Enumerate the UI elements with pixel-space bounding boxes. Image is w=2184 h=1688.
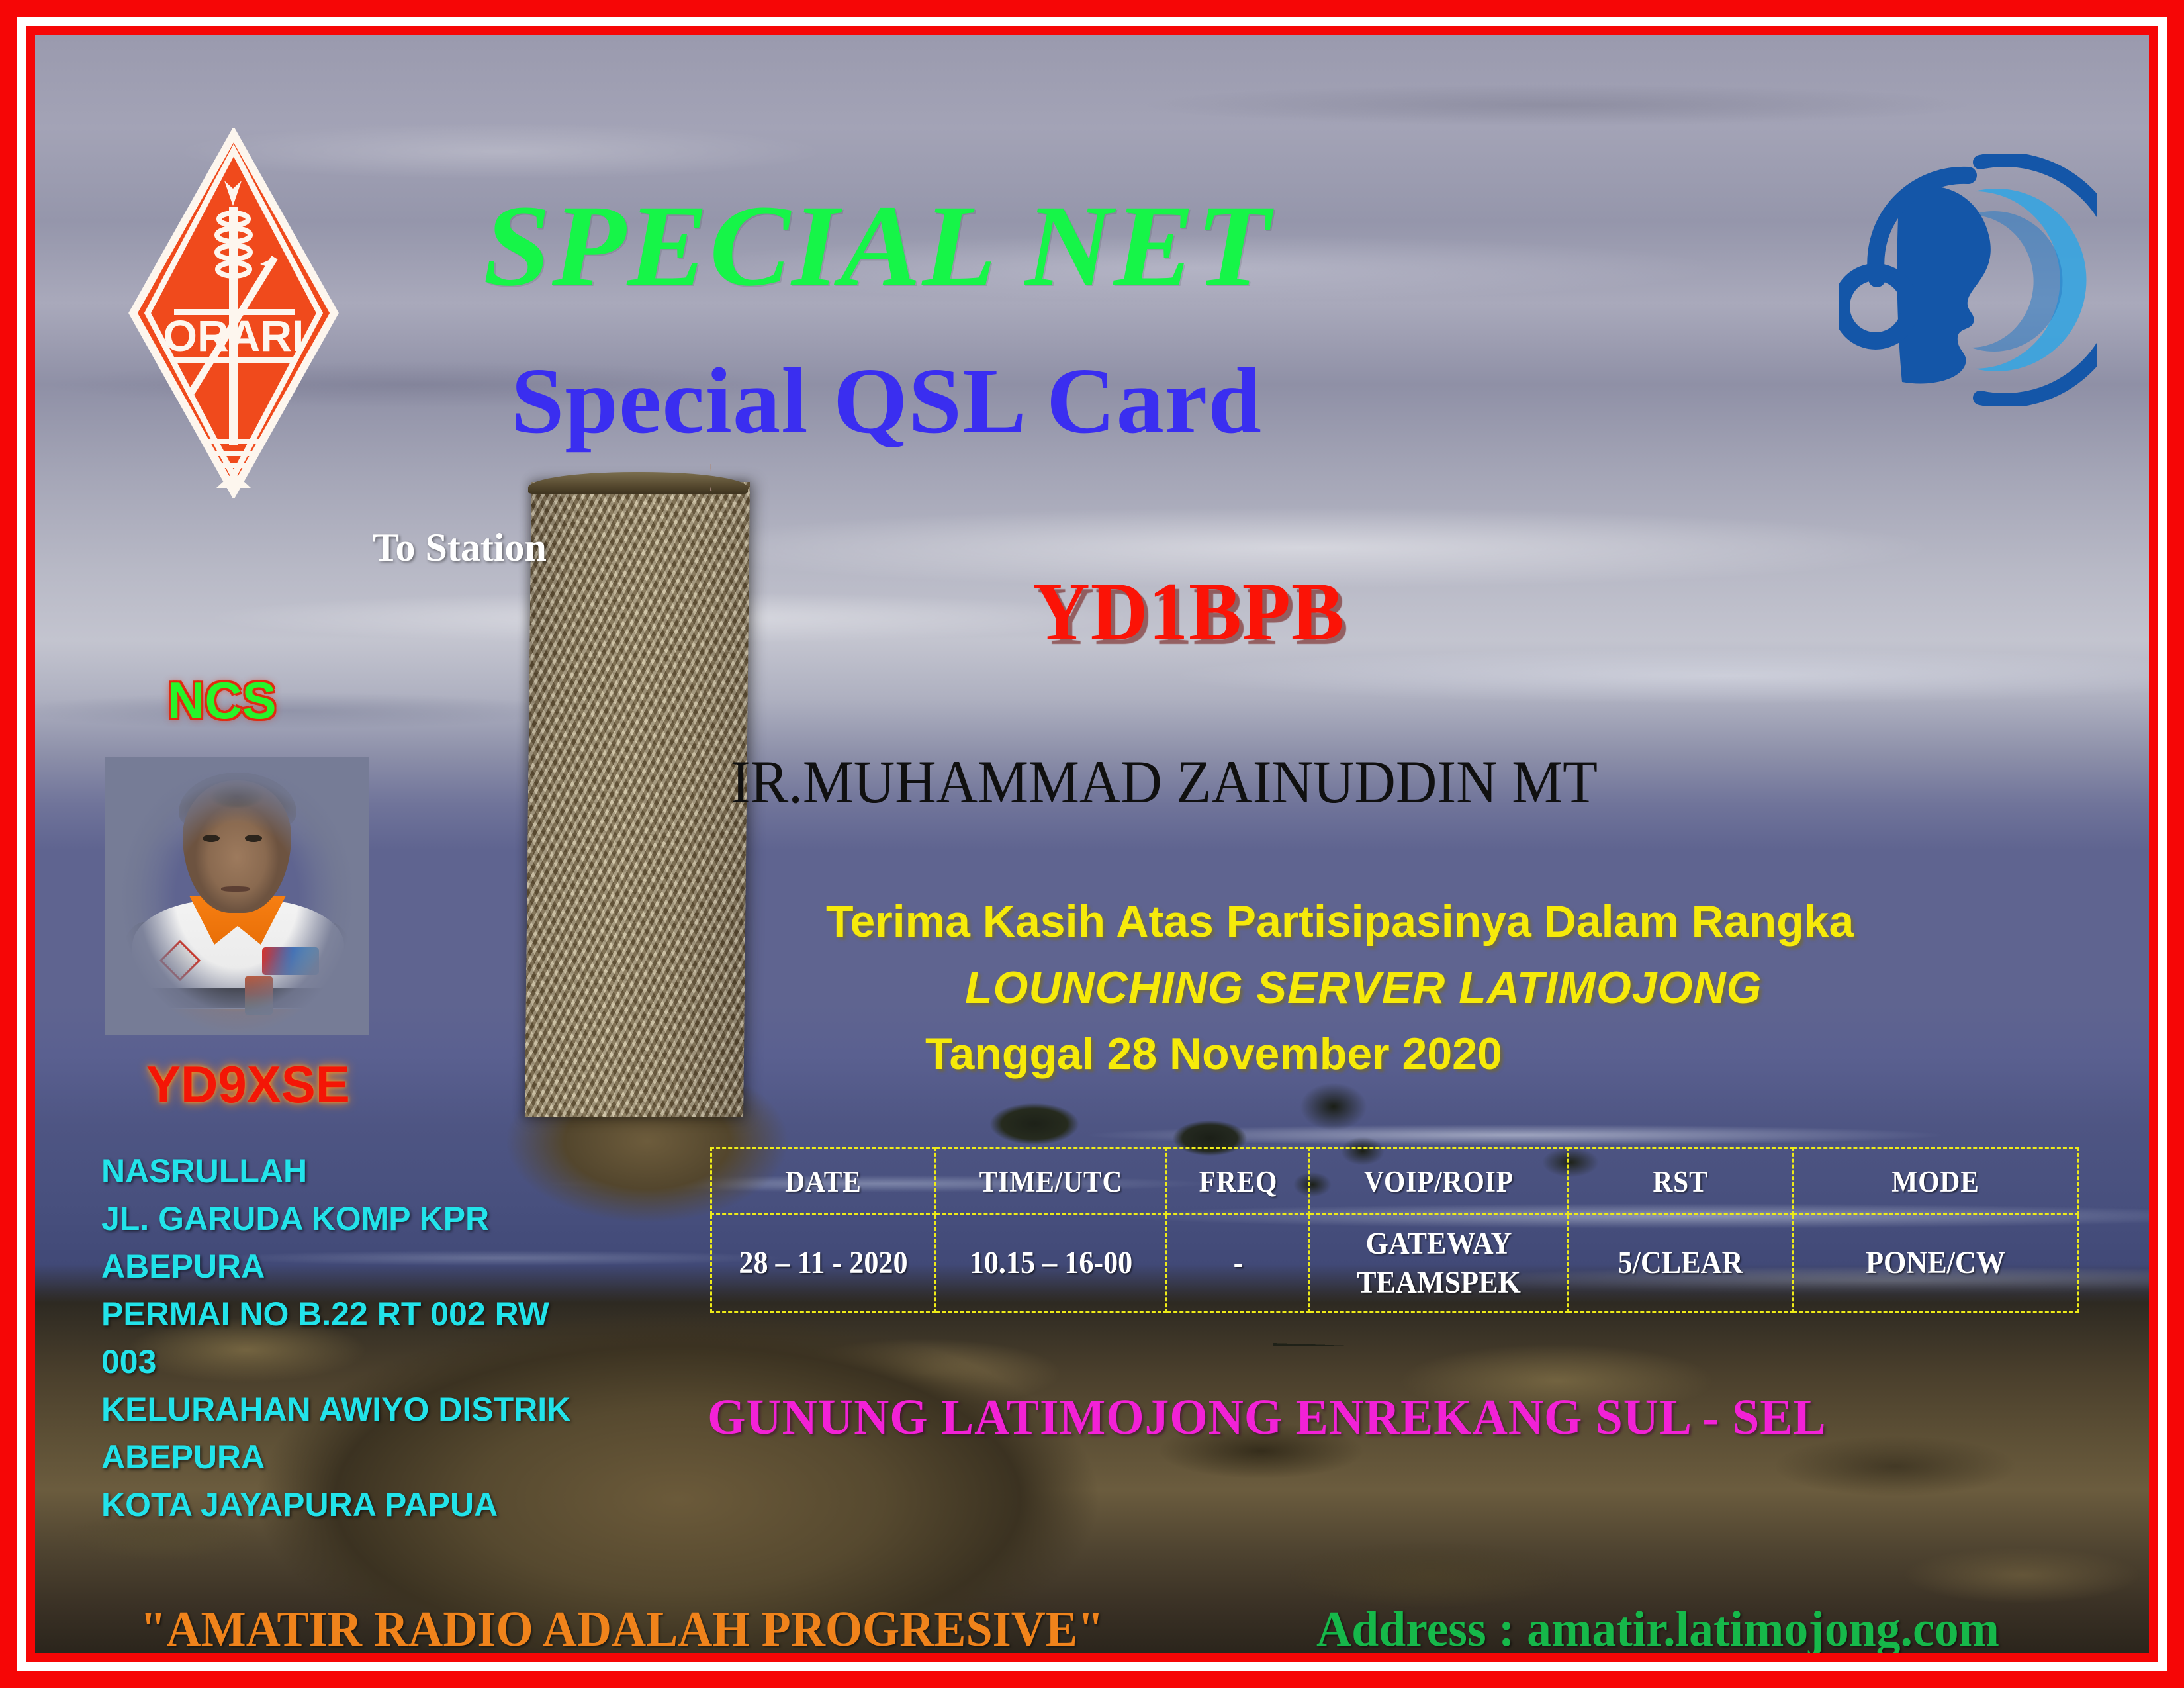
page-title: SPECIAL NET bbox=[483, 179, 1271, 313]
cell-voip-line1: GATEWAY bbox=[1365, 1226, 1512, 1261]
cell-freq: - bbox=[1172, 1215, 1304, 1313]
table-header-voip: VOIP/ROIP bbox=[1320, 1149, 1557, 1215]
location-caption: GUNUNG LATIMOJONG ENREKANG SUL - SEL bbox=[707, 1389, 1826, 1446]
photo-oval-vignette bbox=[105, 757, 369, 1035]
cell-date: 28 – 11 - 2020 bbox=[720, 1215, 926, 1313]
headset-profile-logo bbox=[1839, 154, 2097, 406]
address-line: KELURAHAN AWIYO DISTRIK bbox=[101, 1385, 604, 1433]
ncs-callsign: YD9XSE bbox=[146, 1055, 350, 1115]
table-header-date: DATE bbox=[720, 1149, 926, 1215]
address-line: ABEPURA bbox=[101, 1433, 604, 1481]
qsl-card-frame-inner: ORARI SPECIAL NET Special QSL Card To St… bbox=[26, 26, 2158, 1662]
cell-rst: 5/CLEAR bbox=[1576, 1215, 1784, 1313]
table-row: 28 – 11 - 2020 10.15 – 16-00 - GATEWAY T… bbox=[711, 1215, 2078, 1313]
recipient-operator-name: IR.MUHAMMAD ZAINUDDIN MT bbox=[731, 747, 1598, 817]
page-subtitle: Special QSL Card bbox=[511, 346, 1262, 455]
orari-logo: ORARI bbox=[128, 128, 340, 498]
qsl-card-photo-area: ORARI SPECIAL NET Special QSL Card To St… bbox=[35, 35, 2149, 1653]
footer-website: Address : amatir.latimojong.com bbox=[1316, 1601, 1999, 1653]
ncs-label: NCS bbox=[167, 671, 277, 731]
ncs-operator-photo bbox=[105, 757, 369, 1035]
recipient-callsign: YD1BPB bbox=[1032, 565, 1344, 660]
table-header-row: DATE TIME/UTC FREQ VOIP/ROIP RST MODE bbox=[711, 1149, 2078, 1215]
orari-logo-text: ORARI bbox=[163, 311, 304, 360]
summit-stone-pillar bbox=[525, 482, 750, 1117]
table-header-time: TIME/UTC bbox=[944, 1149, 1158, 1215]
cell-voip: GATEWAY TEAMSPEK bbox=[1320, 1215, 1557, 1313]
table-header-rst: RST bbox=[1576, 1149, 1784, 1215]
to-station-label: To Station bbox=[373, 525, 547, 571]
address-line: JL. GARUDA KOMP KPR bbox=[101, 1195, 604, 1243]
footer-slogan: "AMATIR RADIO ADALAH PROGRESIVE" bbox=[140, 1601, 1104, 1653]
event-date-line: Tanggal 28 November 2020 bbox=[925, 1028, 1502, 1080]
pillar-grass-wisp bbox=[710, 464, 790, 491]
qsl-card-frame-gap: ORARI SPECIAL NET Special QSL Card To St… bbox=[17, 17, 2167, 1671]
address-line: KOTA JAYAPURA PAPUA bbox=[101, 1481, 604, 1528]
cell-mode: PONE/CW bbox=[1804, 1215, 2067, 1313]
address-line: ABEPURA bbox=[101, 1243, 604, 1290]
address-line: NASRULLAH bbox=[101, 1147, 604, 1195]
qso-log-table: DATE TIME/UTC FREQ VOIP/ROIP RST MODE 28… bbox=[710, 1147, 2079, 1313]
table-header-mode: MODE bbox=[1804, 1149, 2067, 1215]
address-line: PERMAI NO B.22 RT 002 RW 003 bbox=[101, 1290, 604, 1385]
thanks-line-1: Terima Kasih Atas Partisipasinya Dalam R… bbox=[826, 896, 1854, 947]
qsl-card-frame-outer: ORARI SPECIAL NET Special QSL Card To St… bbox=[0, 0, 2184, 1688]
event-name-line: LOUNCHING SERVER LATIMOJONG bbox=[965, 962, 1762, 1013]
cell-voip-line2: TEAMSPEK bbox=[1357, 1265, 1521, 1300]
cell-time: 10.15 – 16-00 bbox=[944, 1215, 1158, 1313]
ncs-address-block: NASRULLAH JL. GARUDA KOMP KPR ABEPURA PE… bbox=[101, 1147, 604, 1528]
table-header-freq: FREQ bbox=[1172, 1149, 1304, 1215]
